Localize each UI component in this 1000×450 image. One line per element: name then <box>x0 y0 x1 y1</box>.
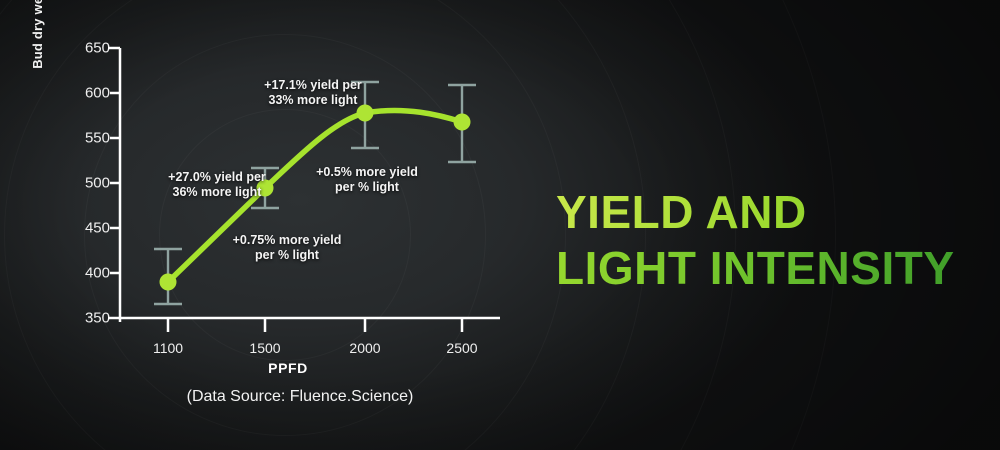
x-tick-marks <box>168 318 462 332</box>
x-tick-label: 1500 <box>249 340 280 356</box>
x-tick-label: 2000 <box>349 340 380 356</box>
x-axis-label: PPFD <box>268 360 308 376</box>
data-source-caption: (Data Source: Fluence.Science) <box>187 388 414 406</box>
headline-line-1: YIELD AND <box>556 184 955 240</box>
annotation-rate-high: +0.5% more yield per % light <box>303 165 431 195</box>
data-point <box>160 274 177 291</box>
infographic-canvas: Bud dry weight (g/plant) 650 600 550 500… <box>0 0 1000 450</box>
annotation-rate-low: +0.75% more yield per % light <box>222 233 352 263</box>
headline: YIELD AND LIGHT INTENSITY <box>556 184 955 296</box>
data-point <box>454 114 471 131</box>
x-tick-label: 1100 <box>153 340 183 356</box>
headline-line-2: LIGHT INTENSITY <box>556 240 955 296</box>
x-tick-label: 2500 <box>446 340 477 356</box>
annotation-1500-2000: +17.1% yield per 33% more light <box>248 78 378 108</box>
y-tick-marks <box>108 48 120 318</box>
chart: Bud dry weight (g/plant) 650 600 550 500… <box>0 0 540 450</box>
annotation-1100-1500: +27.0% yield per 36% more light <box>152 170 282 200</box>
plot-area <box>0 0 540 450</box>
